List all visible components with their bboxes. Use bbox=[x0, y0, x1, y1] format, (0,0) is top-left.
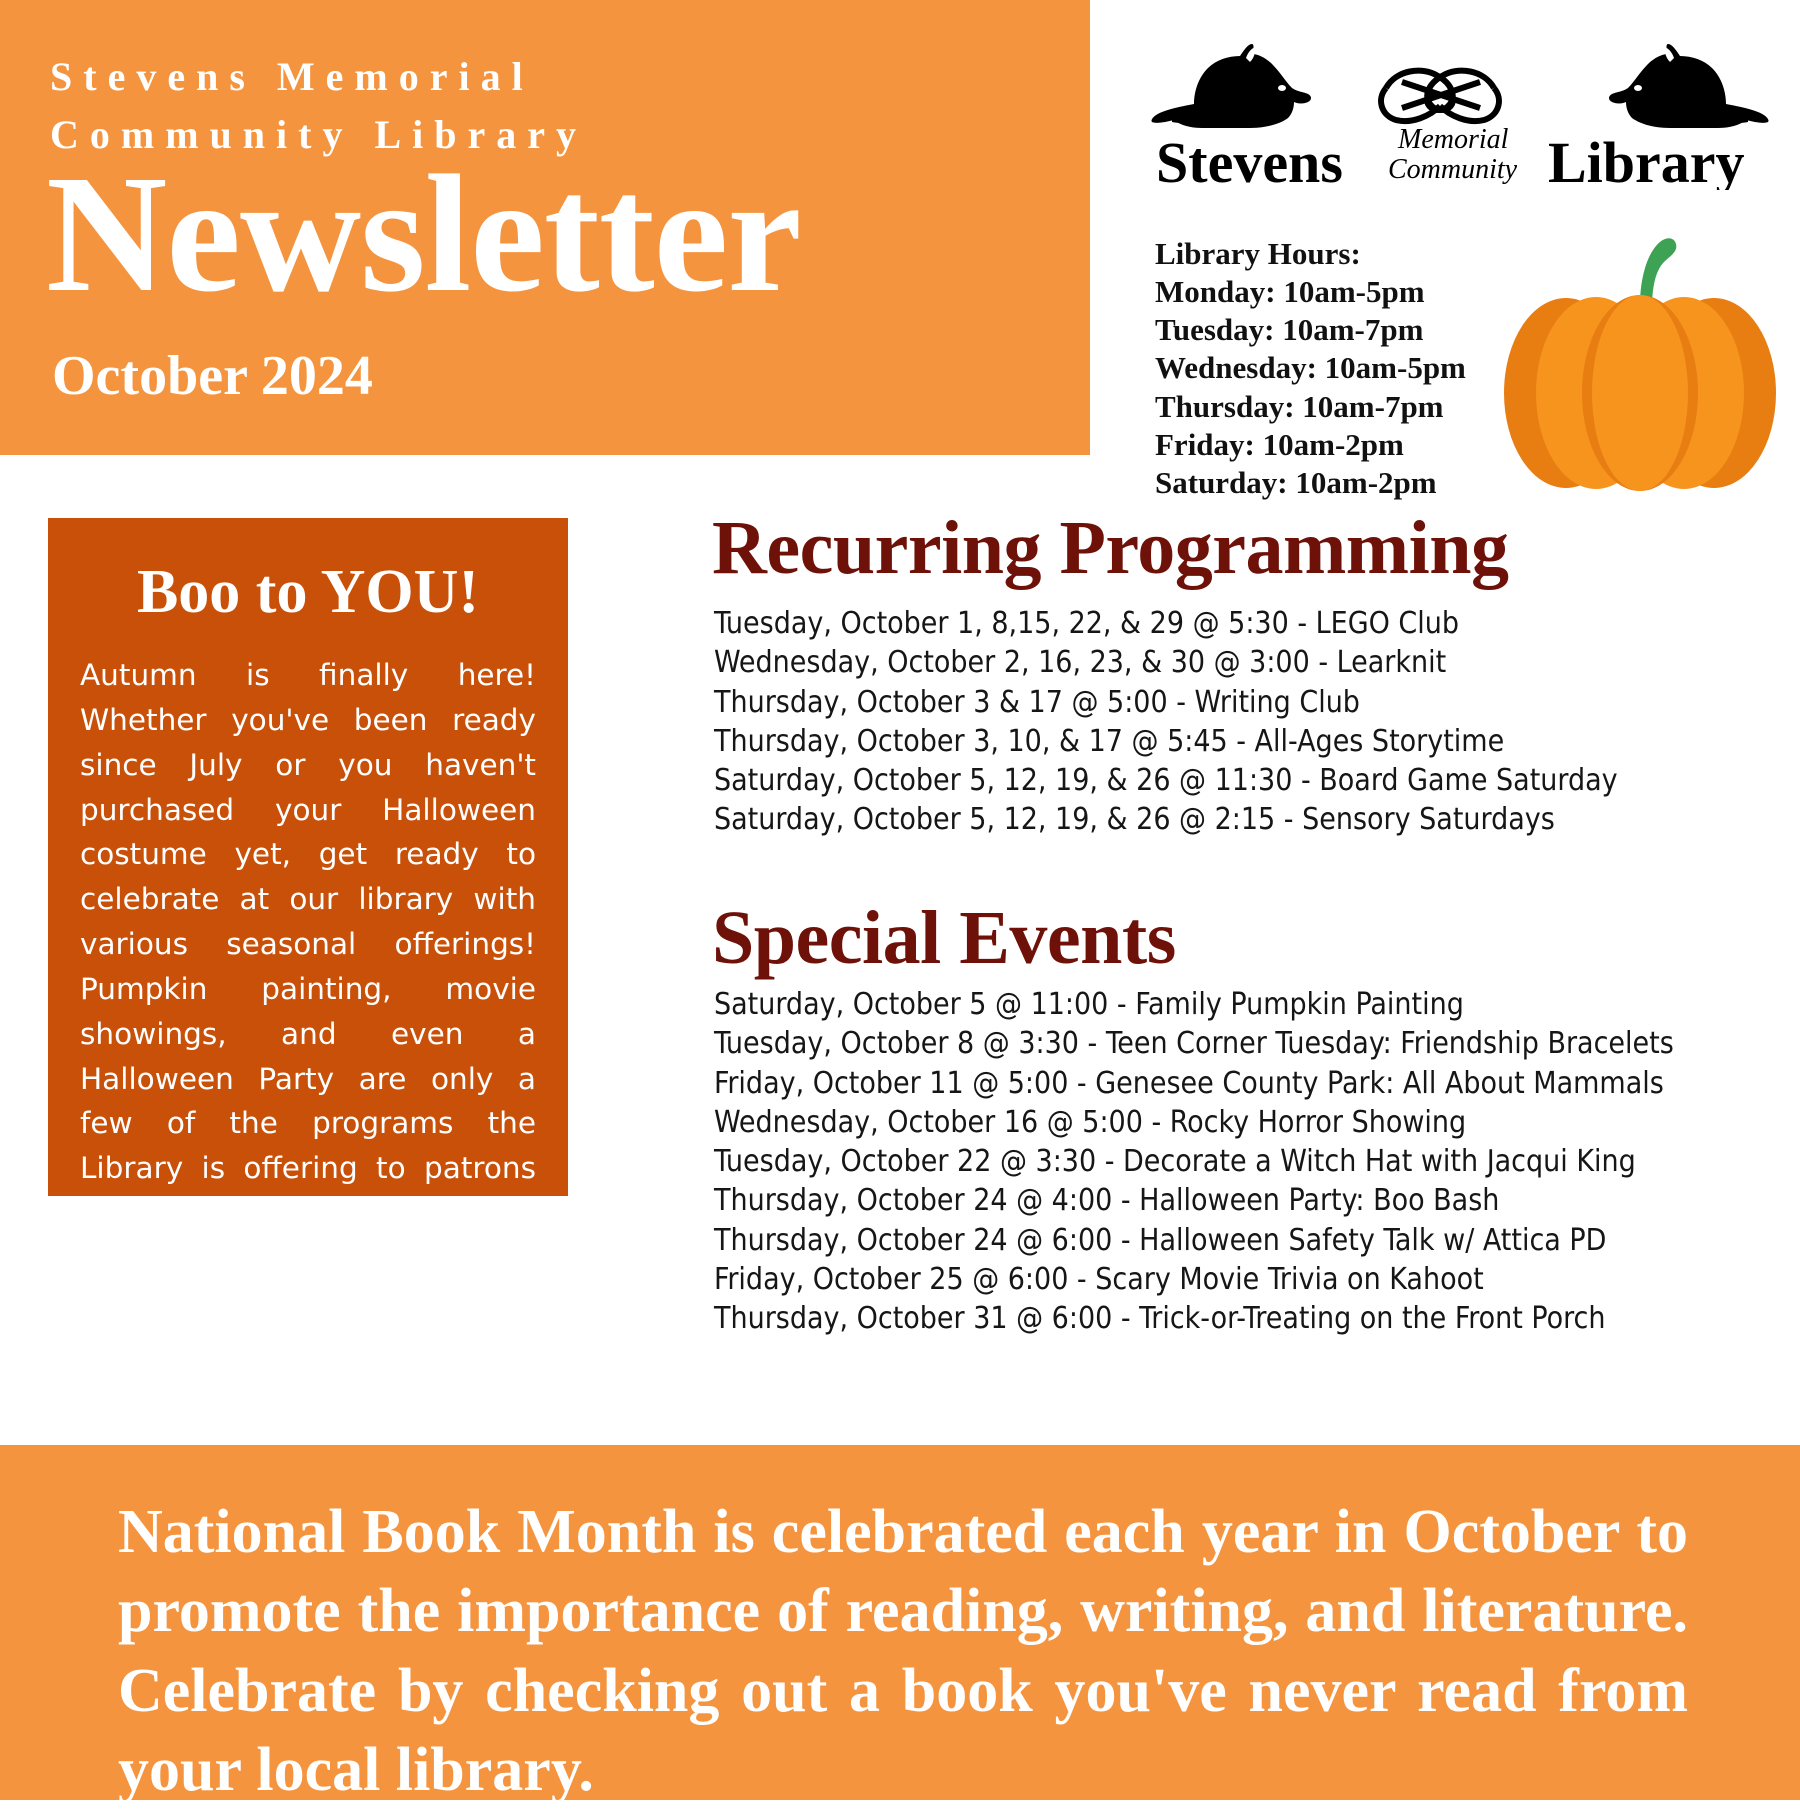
list-item: Wednesday, October 16 @ 5:00 - Rocky Hor… bbox=[714, 1103, 1674, 1142]
list-item: Friday, October 11 @ 5:00 - Genesee Coun… bbox=[714, 1064, 1674, 1103]
list-item: Wednesday, October 2, 16, 23, & 30 @ 3:0… bbox=[714, 643, 1618, 682]
hours-heading: Library Hours: bbox=[1155, 235, 1466, 273]
footer-message: National Book Month is celebrated each y… bbox=[118, 1493, 1688, 1810]
list-item: Tuesday, October 8 @ 3:30 - Teen Corner … bbox=[714, 1024, 1674, 1063]
list-item: Tuesday, October 1, 8,15, 22, & 29 @ 5:3… bbox=[714, 604, 1618, 643]
hours-row-thursday: Thursday: 10am-7pm bbox=[1155, 388, 1466, 426]
list-item: Saturday, October 5 @ 11:00 - Family Pum… bbox=[714, 985, 1674, 1024]
issue-date: October 2024 bbox=[52, 348, 373, 404]
newsletter-page: Stevens Memorial Community Library Newsl… bbox=[0, 0, 1800, 1800]
recurring-programming-heading: Recurring Programming bbox=[712, 510, 1508, 586]
list-item: Thursday, October 24 @ 6:00 - Halloween … bbox=[714, 1221, 1674, 1260]
list-item: Tuesday, October 22 @ 3:30 - Decorate a … bbox=[714, 1142, 1674, 1181]
list-item: Friday, October 25 @ 6:00 - Scary Movie … bbox=[714, 1260, 1674, 1299]
list-item: Thursday, October 3 & 17 @ 5:00 - Writin… bbox=[714, 683, 1618, 722]
hours-row-monday: Monday: 10am-5pm bbox=[1155, 273, 1466, 311]
lion-icon-left bbox=[1151, 44, 1311, 128]
list-item: Saturday, October 5, 12, 19, & 26 @ 11:3… bbox=[714, 761, 1618, 800]
hours-row-tuesday: Tuesday: 10am-7pm bbox=[1155, 311, 1466, 349]
boo-callout-box: Boo to YOU! Autumn is finally here! Whet… bbox=[48, 518, 568, 1196]
flourish-ornament bbox=[1381, 71, 1499, 121]
logo-word-library: Library bbox=[1548, 130, 1745, 190]
special-events-list: Saturday, October 5 @ 11:00 - Family Pum… bbox=[714, 985, 1674, 1339]
library-hours: Library Hours: Monday: 10am-5pm Tuesday:… bbox=[1155, 235, 1466, 502]
recurring-programming-list: Tuesday, October 1, 8,15, 22, & 29 @ 5:3… bbox=[714, 604, 1618, 840]
hours-row-friday: Friday: 10am-2pm bbox=[1155, 426, 1466, 464]
boo-body-text: Autumn is finally here! Whether you've b… bbox=[80, 653, 536, 1281]
lion-icon-right bbox=[1609, 44, 1769, 128]
list-item: Saturday, October 5, 12, 19, & 26 @ 2:15… bbox=[714, 800, 1618, 839]
library-logo: Stevens Memorial Community Library bbox=[1150, 30, 1770, 190]
special-events-heading: Special Events bbox=[712, 900, 1176, 976]
list-item: Thursday, October 31 @ 6:00 - Trick-or-T… bbox=[714, 1299, 1674, 1338]
list-item: Thursday, October 24 @ 4:00 - Halloween … bbox=[714, 1181, 1674, 1220]
logo-word-memorial: Memorial bbox=[1397, 124, 1509, 155]
list-item: Thursday, October 3, 10, & 17 @ 5:45 - A… bbox=[714, 722, 1618, 761]
organization-line-1: Stevens Memorial bbox=[50, 48, 810, 106]
hours-row-saturday: Saturday: 10am-2pm bbox=[1155, 464, 1466, 502]
logo-word-stevens: Stevens bbox=[1156, 130, 1343, 190]
logo-word-community: Community bbox=[1388, 154, 1518, 185]
footer-banner: National Book Month is celebrated each y… bbox=[0, 1445, 1800, 1800]
hours-row-wednesday: Wednesday: 10am-5pm bbox=[1155, 349, 1466, 387]
boo-title: Boo to YOU! bbox=[80, 560, 536, 625]
page-title: Newsletter bbox=[46, 150, 801, 318]
pumpkin-icon bbox=[1490, 228, 1790, 498]
